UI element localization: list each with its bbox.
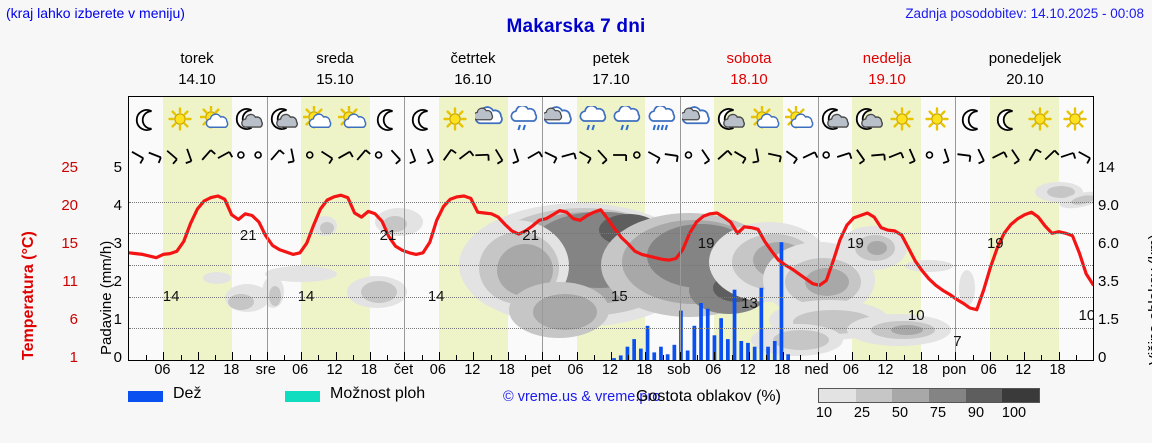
x-tick bbox=[456, 355, 457, 360]
x-tick bbox=[697, 355, 698, 360]
x-tick bbox=[818, 352, 819, 360]
temperature-tick: 6 bbox=[42, 311, 78, 328]
sun-cloud-icon bbox=[198, 97, 232, 140]
x-axis-label: 06 bbox=[981, 362, 997, 378]
x-tick bbox=[198, 352, 199, 360]
cloud-ramp-step bbox=[1002, 389, 1039, 402]
x-axis-label: pet bbox=[531, 362, 551, 378]
x-axis-label: ned bbox=[804, 362, 828, 378]
x-tick bbox=[783, 352, 784, 360]
x-tick bbox=[318, 355, 319, 360]
day-header-4: sobota18.10 bbox=[680, 48, 818, 93]
wind-barbs bbox=[129, 140, 1093, 170]
cloud-icon bbox=[473, 97, 507, 140]
x-tick bbox=[714, 352, 715, 360]
horizontal-gridline bbox=[129, 265, 1093, 266]
x-tick bbox=[146, 355, 147, 360]
cloud-height-tick: 9.0 bbox=[1098, 197, 1132, 214]
day-date: 16.10 bbox=[404, 69, 542, 90]
x-axis-label: 06 bbox=[154, 362, 170, 378]
horizontal-gridline bbox=[129, 328, 1093, 329]
cloud-height-tick: 3.5 bbox=[1098, 273, 1132, 290]
precipitation-axis-title: Padavine (mm/h) bbox=[80, 170, 102, 365]
temperature-tick: 20 bbox=[42, 197, 78, 214]
cloud-ramp-label: 10 bbox=[816, 405, 832, 421]
x-tick bbox=[1024, 352, 1025, 360]
x-tick bbox=[800, 355, 801, 360]
x-tick bbox=[1007, 355, 1008, 360]
x-axis-label: 12 bbox=[464, 362, 480, 378]
horizontal-gridline bbox=[129, 202, 1093, 203]
x-tick bbox=[232, 352, 233, 360]
showers-legend-label: Možnost ploh bbox=[330, 385, 425, 403]
x-tick bbox=[577, 352, 578, 360]
last-update-label: Zadnja posodobitev: 14.10.2025 - 00:08 bbox=[905, 6, 1144, 21]
legend: Dež Možnost ploh © vreme.us & vreme.pro … bbox=[128, 388, 1142, 428]
vertical-gridline bbox=[404, 170, 405, 360]
x-axis-label: pon bbox=[942, 362, 966, 378]
moon-cloud-icon bbox=[232, 97, 266, 140]
temperature-value-label: 21 bbox=[380, 227, 397, 244]
temperature-value-label: 19 bbox=[698, 235, 715, 252]
sun-cloud-icon bbox=[783, 97, 817, 140]
cloud-density-ramp bbox=[818, 388, 1040, 403]
x-axis-label: čet bbox=[394, 362, 413, 378]
cloud-height-tick: 0 bbox=[1098, 349, 1132, 366]
x-tick bbox=[869, 355, 870, 360]
x-axis-label: 06 bbox=[843, 362, 859, 378]
cloud-ramp-label: 75 bbox=[930, 405, 946, 421]
x-tick bbox=[267, 352, 268, 360]
cloud-rain-icon bbox=[508, 97, 542, 140]
moon-icon bbox=[955, 97, 989, 140]
x-tick bbox=[732, 355, 733, 360]
temperature-value-label: 15 bbox=[611, 288, 628, 305]
x-axis-label: 18 bbox=[912, 362, 928, 378]
day-name: sobota bbox=[680, 48, 818, 69]
cloud-ramp-step bbox=[966, 389, 1003, 402]
x-tick bbox=[852, 352, 853, 360]
day-header-1: sreda15.10 bbox=[266, 48, 404, 93]
cloud-height-tick: 6.0 bbox=[1098, 235, 1132, 252]
x-tick bbox=[370, 352, 371, 360]
cloud-height-tick: 14 bbox=[1098, 159, 1132, 176]
sun-icon bbox=[439, 97, 473, 140]
sun-cloud-icon bbox=[336, 97, 370, 140]
vertical-gridline bbox=[955, 170, 956, 360]
x-axis-label: 06 bbox=[705, 362, 721, 378]
rain-legend-swatch bbox=[128, 391, 163, 402]
day-name: sreda bbox=[266, 48, 404, 69]
day-name: četrtek bbox=[404, 48, 542, 69]
x-tick bbox=[955, 352, 956, 360]
x-tick bbox=[473, 352, 474, 360]
cloud-icon bbox=[542, 97, 576, 140]
x-axis-label: 06 bbox=[430, 362, 446, 378]
x-tick bbox=[611, 352, 612, 360]
x-tick bbox=[181, 355, 182, 360]
x-tick-marks bbox=[129, 351, 1093, 360]
cloud-density-ramp-labels: 1025507590100 bbox=[814, 405, 1046, 423]
x-tick bbox=[938, 355, 939, 360]
x-tick bbox=[542, 352, 543, 360]
x-tick bbox=[886, 352, 887, 360]
x-axis-label: 18 bbox=[1049, 362, 1065, 378]
sun-cloud-icon bbox=[749, 97, 783, 140]
cloud-height-axis-title: Višina oblakov (km) bbox=[1128, 165, 1150, 365]
moon-icon bbox=[370, 97, 404, 140]
forecast-plot-frame: 142114211421151913191019710 bbox=[128, 96, 1094, 361]
vertical-gridline bbox=[267, 170, 268, 360]
x-tick bbox=[508, 352, 509, 360]
x-axis-label: 12 bbox=[189, 362, 205, 378]
moon-icon bbox=[129, 97, 163, 140]
moon-icon bbox=[990, 97, 1024, 140]
x-axis-label: 12 bbox=[877, 362, 893, 378]
x-tick bbox=[404, 352, 405, 360]
cloud-icon bbox=[680, 97, 714, 140]
sun-icon bbox=[1024, 97, 1058, 140]
moon-icon bbox=[404, 97, 438, 140]
x-axis-label: 18 bbox=[774, 362, 790, 378]
x-tick bbox=[1041, 355, 1042, 360]
temperature-tick: 11 bbox=[42, 273, 78, 290]
x-tick bbox=[990, 352, 991, 360]
day-name: petek bbox=[542, 48, 680, 69]
temperature-tick: 1 bbox=[42, 349, 78, 366]
cloud-rain-icon bbox=[576, 97, 610, 140]
temperature-value-label: 21 bbox=[240, 227, 257, 244]
plot-area: 142114211421151913191019710 bbox=[129, 170, 1093, 360]
day-date: 20.10 bbox=[956, 69, 1094, 90]
vertical-gridline bbox=[680, 170, 681, 360]
temperature-value-label: 21 bbox=[522, 227, 539, 244]
day-name: ponedeljek bbox=[956, 48, 1094, 69]
day-header-strip: torek14.10sreda15.10četrtek16.10petek17.… bbox=[128, 48, 1094, 93]
temperature-value-label: 10 bbox=[1079, 307, 1093, 324]
cloud-ramp-label: 90 bbox=[968, 405, 984, 421]
day-header-5: nedelja19.10 bbox=[818, 48, 956, 93]
x-tick bbox=[921, 352, 922, 360]
cloud-density-legend-title: Gostota oblakov (%) bbox=[636, 388, 781, 406]
x-tick bbox=[766, 355, 767, 360]
cloud-ramp-label: 50 bbox=[892, 405, 908, 421]
x-tick bbox=[250, 355, 251, 360]
x-tick bbox=[645, 352, 646, 360]
x-tick bbox=[749, 352, 750, 360]
cloud-ramp-label: 100 bbox=[1002, 405, 1026, 421]
x-tick bbox=[559, 355, 560, 360]
x-axis-label: 18 bbox=[223, 362, 239, 378]
x-tick bbox=[163, 352, 164, 360]
precipitation-tick: 0 bbox=[100, 349, 122, 366]
temperature-axis-title: Temperatura (°C) bbox=[2, 170, 24, 365]
x-tick bbox=[387, 355, 388, 360]
day-date: 18.10 bbox=[680, 69, 818, 90]
sun-icon bbox=[163, 97, 197, 140]
x-tick bbox=[422, 355, 423, 360]
temperature-tick: 25 bbox=[42, 159, 78, 176]
x-tick bbox=[439, 352, 440, 360]
day-date: 17.10 bbox=[542, 69, 680, 90]
x-tick bbox=[336, 352, 337, 360]
day-name: nedelja bbox=[818, 48, 956, 69]
temperature-value-label: 14 bbox=[428, 288, 445, 305]
x-tick bbox=[680, 352, 681, 360]
precipitation-tick: 5 bbox=[100, 159, 122, 176]
vertical-gridline bbox=[818, 170, 819, 360]
temperature-tick: 15 bbox=[42, 235, 78, 252]
x-tick bbox=[1076, 355, 1077, 360]
wind-barb-row bbox=[129, 140, 1093, 170]
temperature-value-label: 7 bbox=[953, 333, 961, 350]
sun-icon bbox=[1058, 97, 1092, 140]
x-tick bbox=[353, 355, 354, 360]
x-axis-label: 06 bbox=[567, 362, 583, 378]
temperature-value-label: 14 bbox=[163, 288, 180, 305]
rain-bar bbox=[733, 290, 737, 360]
x-axis-labels: 061218sre061218čet061218pet061218sob0612… bbox=[128, 362, 1094, 382]
temperature-value-label: 19 bbox=[847, 235, 864, 252]
sun-icon bbox=[886, 97, 920, 140]
x-tick bbox=[973, 355, 974, 360]
x-tick bbox=[491, 355, 492, 360]
rain-bar bbox=[760, 288, 764, 360]
day-header-2: četrtek16.10 bbox=[404, 48, 542, 93]
cloud-rain-heavy-icon bbox=[645, 97, 679, 140]
day-header-6: ponedeljek20.10 bbox=[956, 48, 1094, 93]
day-date: 19.10 bbox=[818, 69, 956, 90]
precipitation-tick: 3 bbox=[100, 235, 122, 252]
day-date: 14.10 bbox=[128, 69, 266, 90]
temperature-value-label: 19 bbox=[987, 235, 1004, 252]
x-axis-label: 18 bbox=[361, 362, 377, 378]
sun-cloud-icon bbox=[301, 97, 335, 140]
cloud-ramp-step bbox=[892, 389, 929, 402]
cloud-rain-icon bbox=[611, 97, 645, 140]
x-tick bbox=[284, 355, 285, 360]
rain-legend-label: Dež bbox=[173, 385, 201, 403]
x-tick bbox=[835, 355, 836, 360]
moon-cloud-icon bbox=[817, 97, 851, 140]
precipitation-tick: 4 bbox=[100, 197, 122, 214]
moon-cloud-icon bbox=[714, 97, 748, 140]
weather-icon-row bbox=[129, 97, 1093, 140]
x-tick bbox=[904, 355, 905, 360]
precipitation-tick: 1 bbox=[100, 311, 122, 328]
sun-icon bbox=[921, 97, 955, 140]
cloud-height-tick: 1.5 bbox=[1098, 311, 1132, 328]
day-date: 15.10 bbox=[266, 69, 404, 90]
day-name: torek bbox=[128, 48, 266, 69]
x-tick bbox=[215, 355, 216, 360]
x-tick bbox=[628, 355, 629, 360]
x-axis-label: 06 bbox=[292, 362, 308, 378]
day-header-0: torek14.10 bbox=[128, 48, 266, 93]
temperature-value-label: 14 bbox=[298, 288, 315, 305]
horizontal-gridline bbox=[129, 233, 1093, 234]
moon-cloud-icon bbox=[267, 97, 301, 140]
x-axis-label: 12 bbox=[1015, 362, 1031, 378]
cloud-ramp-step bbox=[929, 389, 966, 402]
x-axis-label: 12 bbox=[326, 362, 342, 378]
precipitation-tick: 2 bbox=[100, 273, 122, 290]
cloud-ramp-label: 25 bbox=[854, 405, 870, 421]
moon-cloud-icon bbox=[852, 97, 886, 140]
x-tick bbox=[301, 352, 302, 360]
x-axis-label: sob bbox=[667, 362, 690, 378]
x-tick bbox=[594, 355, 595, 360]
x-axis-label: 18 bbox=[499, 362, 515, 378]
cloud-ramp-step bbox=[856, 389, 893, 402]
day-header-3: petek17.10 bbox=[542, 48, 680, 93]
vertical-gridline bbox=[542, 170, 543, 360]
x-tick bbox=[525, 355, 526, 360]
temperature-value-label: 13 bbox=[741, 295, 758, 312]
x-axis-label: 18 bbox=[636, 362, 652, 378]
x-axis-label: 12 bbox=[740, 362, 756, 378]
cloud-ramp-step bbox=[819, 389, 856, 402]
temperature-value-label: 10 bbox=[908, 307, 925, 324]
x-tick bbox=[663, 355, 664, 360]
x-axis-label: 12 bbox=[602, 362, 618, 378]
x-tick bbox=[1059, 352, 1060, 360]
x-axis-label: sre bbox=[256, 362, 276, 378]
showers-legend-swatch bbox=[285, 391, 320, 402]
